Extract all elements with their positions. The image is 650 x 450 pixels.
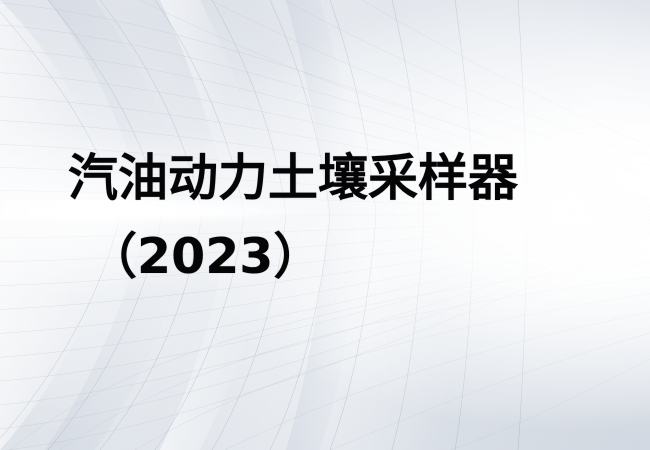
title-text-block: 汽油动力土壤采样器 （2023） — [0, 0, 650, 450]
slide-title-year: （2023） — [88, 229, 322, 285]
title-slide: 汽油动力土壤采样器 （2023） — [0, 0, 650, 450]
slide-title: 汽油动力土壤采样器 — [68, 150, 518, 206]
